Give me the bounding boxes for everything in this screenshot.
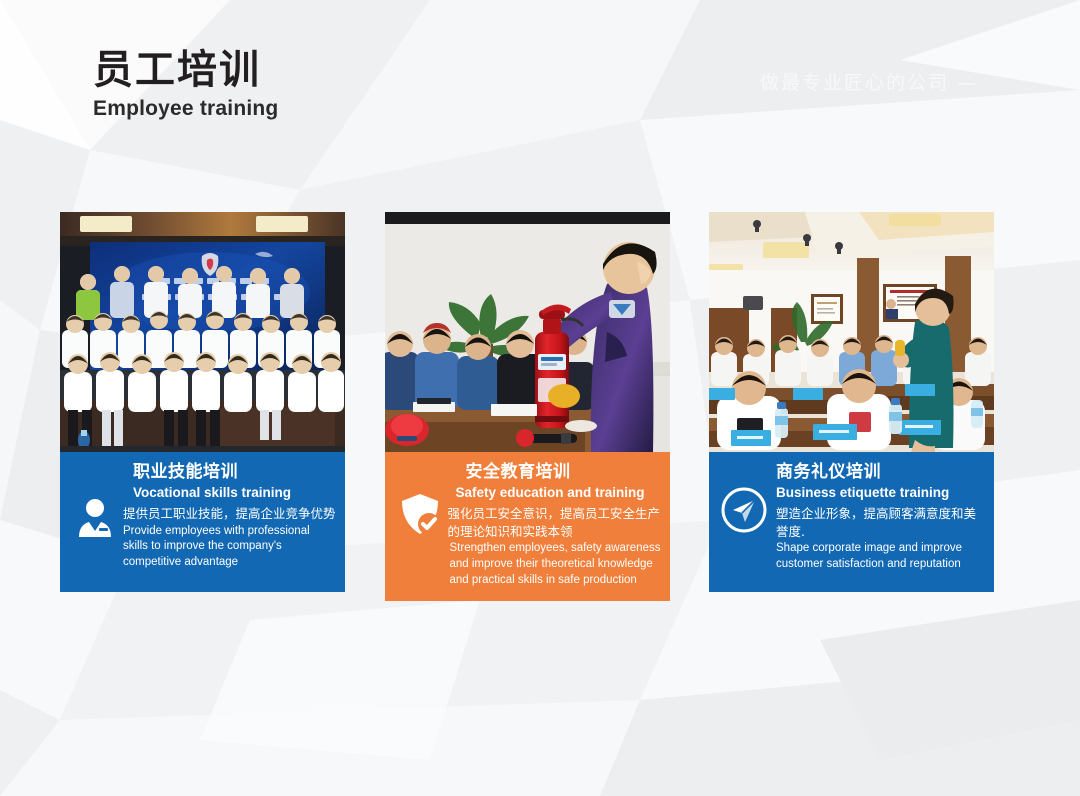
- card-title-en: Business etiquette training: [776, 484, 985, 502]
- page-title-en: Employee training: [93, 97, 278, 121]
- card-desc-en: Provide employees with professional skil…: [123, 524, 336, 572]
- card-caption-safety: 安全教育培训 Safety education and training 强化员…: [385, 452, 670, 601]
- seminar-illustration: [709, 212, 994, 452]
- card-title-en: Vocational skills training: [133, 484, 336, 502]
- card-desc-en: Shape corporate image and improve custom…: [776, 541, 985, 573]
- training-card-safety[interactable]: 安全教育培训 Safety education and training 强化员…: [385, 212, 670, 601]
- group-photo-illustration: [60, 212, 345, 452]
- card-desc-cn: 提供员工职业技能，提高企业竞争优势: [123, 505, 336, 523]
- card-caption-vocational: 职业技能培训 Vocational skills training 提供员工职业…: [60, 452, 345, 592]
- card-desc-cn: 强化员工安全意识，提高员工安全生产的理论知识和实践本领: [448, 505, 661, 541]
- card-title-cn: 安全教育培训: [466, 462, 661, 483]
- card-desc-cn: 塑造企业形象，提高顾客满意度和美誉度.: [776, 505, 985, 541]
- watermark-text: 做最专业匠心的公司 —: [760, 68, 978, 95]
- page-title: 员工培训 Employee training: [93, 48, 278, 121]
- card-title-cn: 商务礼仪培训: [776, 462, 985, 483]
- card-photo-fire-safety: [385, 212, 670, 452]
- card-caption-etiquette: 商务礼仪培训 Business etiquette training 塑造企业形…: [709, 452, 994, 592]
- training-card-vocational[interactable]: 职业技能培训 Vocational skills training 提供员工职业…: [60, 212, 345, 601]
- training-cards-row: 职业技能培训 Vocational skills training 提供员工职业…: [60, 212, 994, 601]
- fire-extinguisher-illustration: [385, 212, 670, 452]
- paper-plane-icon: [718, 484, 770, 536]
- card-photo-seminar: [709, 212, 994, 452]
- card-title-cn: 职业技能培训: [133, 462, 336, 483]
- card-photo-group-training: [60, 212, 345, 452]
- training-card-etiquette[interactable]: 商务礼仪培训 Business etiquette training 塑造企业形…: [709, 212, 994, 601]
- businessman-icon: [69, 492, 121, 544]
- card-desc-en: Strengthen employees, safety awareness a…: [450, 541, 661, 589]
- shield-check-icon: [394, 488, 446, 540]
- page-title-cn: 员工培训: [93, 48, 278, 93]
- card-title-en: Safety education and training: [456, 484, 661, 502]
